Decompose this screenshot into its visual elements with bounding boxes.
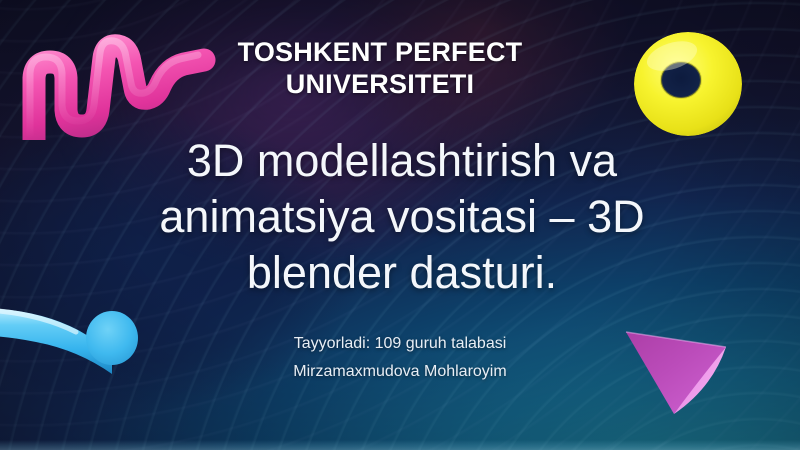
byline-line-2: Mirzamaxmudova Mohlaroyim — [170, 358, 630, 386]
institution-line-1: TOSHKENT PERFECT — [150, 36, 610, 68]
headline-line-3: blender dasturi. — [78, 245, 726, 301]
institution-line-2: UNIVERSITETI — [150, 68, 610, 100]
institution-name: TOSHKENT PERFECT UNIVERSITETI — [150, 36, 610, 101]
cyan-tube-icon — [0, 296, 148, 386]
byline-line-1: Tayyorladi: 109 guruh talabasi — [170, 330, 630, 358]
author-byline: Tayyorladi: 109 guruh talabasi Mirzamaxm… — [170, 330, 630, 386]
background-bottom-highlight — [0, 440, 800, 450]
yellow-torus-icon — [632, 30, 744, 138]
slide-headline: 3D modellashtirish va animatsiya vositas… — [78, 133, 726, 300]
headline-line-2: animatsiya vositasi – 3D — [78, 189, 726, 245]
headline-line-1: 3D modellashtirish va — [78, 133, 726, 189]
magenta-cone-icon — [612, 318, 740, 422]
title-slide: TOSHKENT PERFECT UNIVERSITETI 3D modella… — [0, 0, 800, 450]
